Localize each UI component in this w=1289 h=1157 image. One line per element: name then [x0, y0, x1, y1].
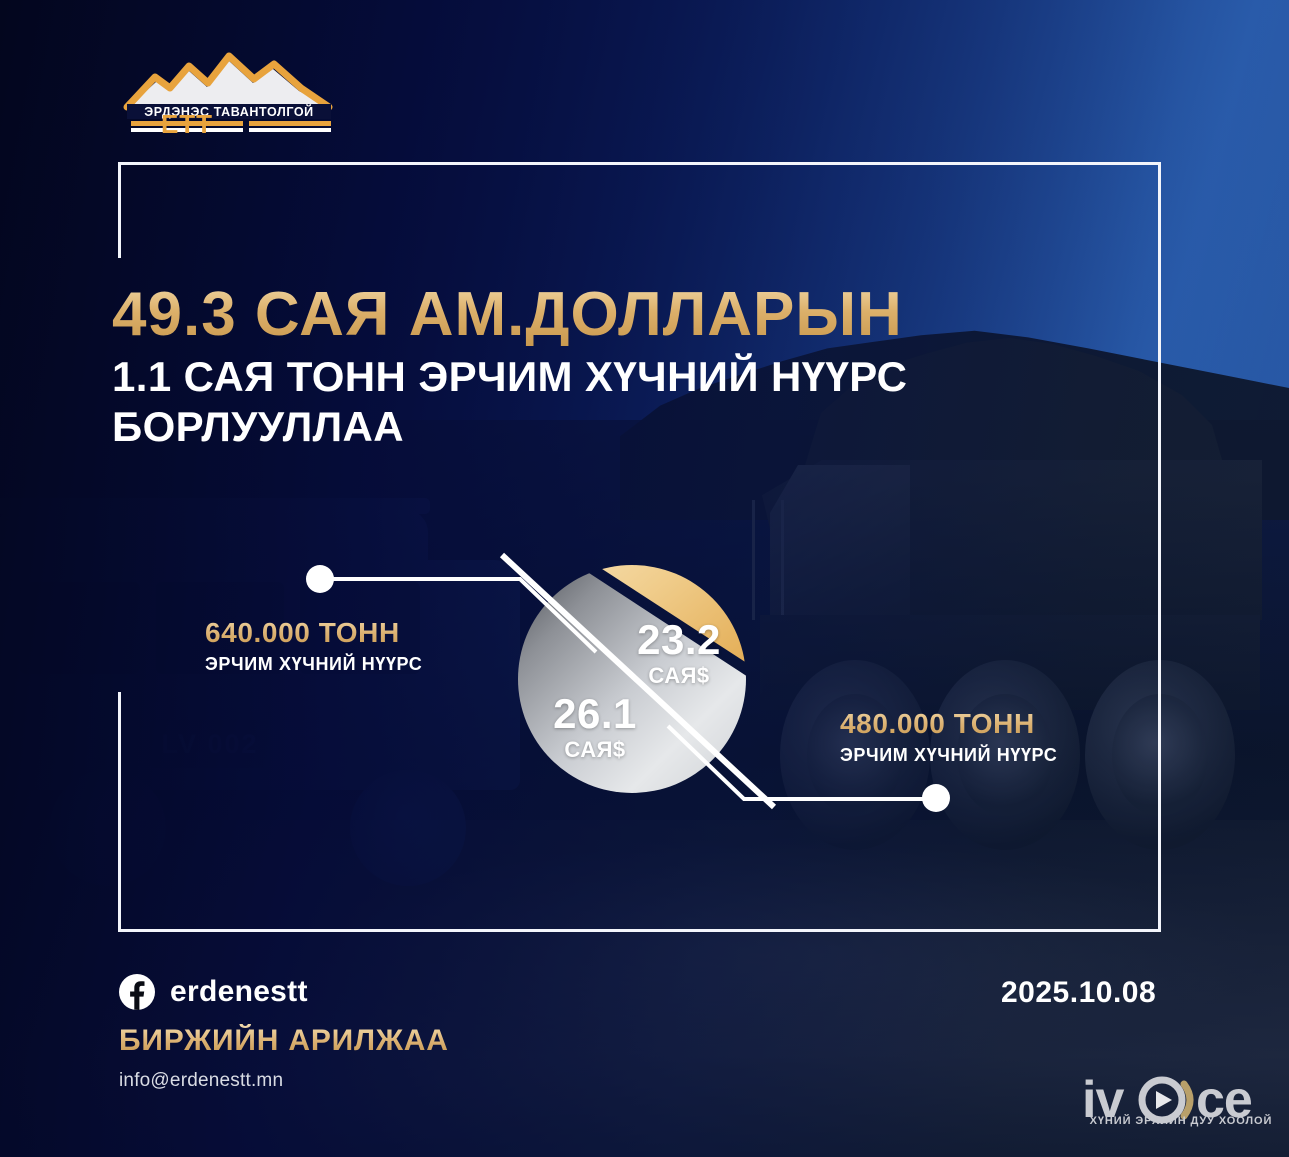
callout-left-tonnes: 640.000 ТОНН	[205, 617, 422, 649]
headline-block: 49.3 САЯ АМ.ДОЛЛАРЫН 1.1 САЯ ТОНН ЭРЧИМ …	[112, 283, 1092, 451]
publish-date: 2025.10.08	[1001, 976, 1156, 1010]
contact-email[interactable]: info@erdenestt.mn	[119, 1070, 283, 1092]
headline-gold-line: 49.3 САЯ АМ.ДОЛЛАРЫН	[112, 283, 1092, 346]
facebook-icon[interactable]	[119, 974, 155, 1010]
pie-chart: 23.2 САЯ$ 26.1 САЯ$	[518, 565, 746, 807]
pie-label-gold: 23.2 САЯ$	[622, 619, 736, 687]
pie-label-silver-value: 26.1	[536, 693, 654, 735]
infographic-canvas: LV 002 ЭРДЭНЭС ТАВАНТОЛГОЙ ETT	[0, 0, 1289, 1157]
callout-left: 640.000 ТОНН ЭРЧИМ ХҮЧНИЙ НҮҮРС	[205, 617, 422, 675]
callout-right-desc: ЭРЧИМ ХҮЧНИЙ НҮҮРС	[840, 745, 1057, 766]
business-line: БИРЖИЙН АРИЛЖАА	[119, 1024, 449, 1058]
headline-white-line: 1.1 САЯ ТОНН ЭРЧИМ ХҮЧНИЙ НҮҮРС БОРЛУУЛЛ…	[112, 352, 1042, 451]
pie-label-silver-unit: САЯ$	[536, 739, 654, 761]
frame-border-left-upper	[118, 162, 121, 258]
pie-label-gold-value: 23.2	[622, 619, 736, 661]
facebook-row[interactable]: erdenestt	[119, 974, 308, 1010]
ivoice-tagline: ХҮНИЙ ЭРХИЙН ДУУ ХООЛОЙ	[1088, 1115, 1274, 1127]
frame-border-left-lower	[118, 692, 121, 932]
ett-logo: ЭРДЭНЭС ТАВАНТОЛГОЙ ETT	[113, 47, 345, 139]
callout-right: 480.000 ТОНН ЭРЧИМ ХҮЧНИЙ НҮҮРС	[840, 708, 1057, 766]
pie-label-gold-unit: САЯ$	[622, 665, 736, 687]
frame-border-top	[118, 162, 1161, 165]
facebook-handle[interactable]: erdenestt	[170, 975, 308, 1009]
frame-border-right	[1158, 162, 1161, 932]
callout-right-tonnes: 480.000 ТОНН	[840, 708, 1057, 740]
callout-left-desc: ЭРЧИМ ХҮЧНИЙ НҮҮРС	[205, 654, 422, 675]
pie-label-silver: 26.1 САЯ$	[536, 693, 654, 761]
frame-border-bottom	[118, 929, 1161, 932]
logo-monogram: ETT	[161, 109, 213, 139]
